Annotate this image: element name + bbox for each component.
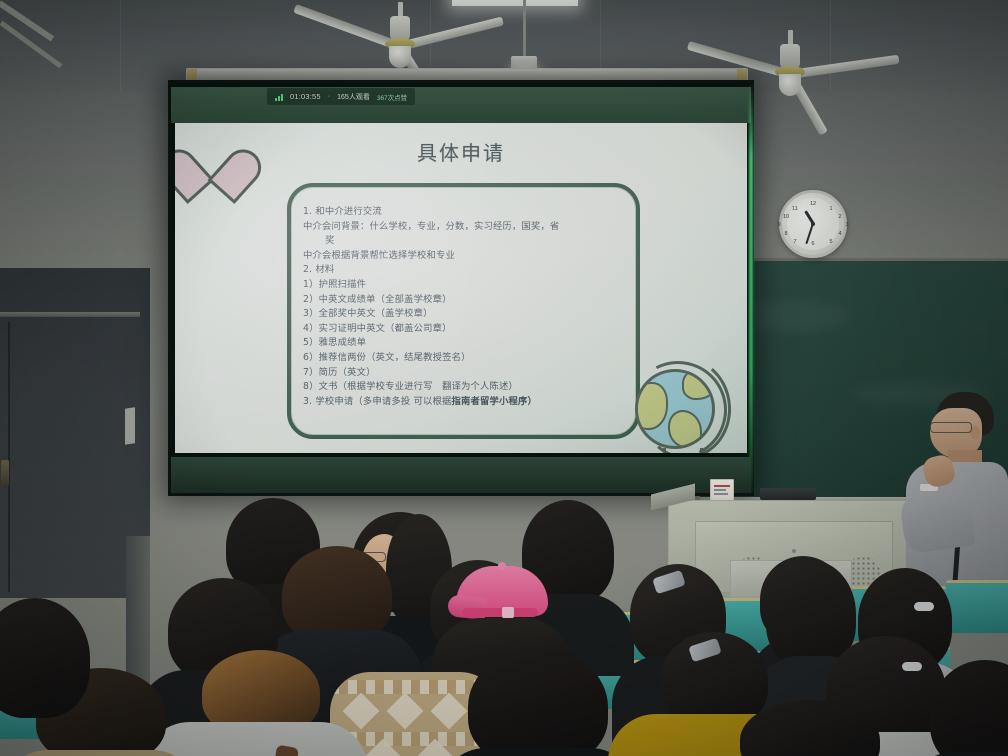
lecture-hall-photo: 12 9 3 6 1 2 4 5 7 8 10 11 01:03:5 (0, 0, 1008, 756)
slide-line-emphasis: 指南者留学小程序） (452, 396, 537, 407)
globe-icon (629, 355, 733, 453)
slide-line: 1）护照扫描件 (303, 278, 633, 293)
live-like-count: 367次点赞 (377, 92, 407, 102)
live-status-bar: 01:03:55 · 165人观看 367次点赞 (267, 88, 415, 105)
signal-bars-icon (275, 93, 283, 101)
ceiling-fan (760, 30, 820, 100)
screen-bottom-band (171, 457, 751, 493)
live-elapsed-time: 01:03:55 (290, 92, 321, 101)
hair-band (914, 602, 934, 611)
door-seam (8, 322, 10, 592)
projection-screen: 01:03:55 · 165人观看 367次点赞 具体申请 1. 和中介进行交流… (168, 80, 754, 496)
laptop-on-podium (760, 488, 816, 500)
door-handle[interactable] (1, 460, 9, 486)
slide-line: 7）简历（英文） (303, 366, 633, 381)
door-notice (125, 407, 135, 444)
slide-line: 奖 (303, 234, 633, 249)
slide-line: 6）推荐信两份（英文，结尾教授签名） (303, 351, 633, 366)
slide-line: 3）全部奖中英文（盖学校章） (303, 307, 633, 322)
screen-top-band (171, 87, 751, 123)
door-lintel (0, 312, 140, 317)
slide-line: 4）实习证明中英文（都盖公司章） (303, 322, 633, 337)
wall-clock: 12 9 3 6 1 2 4 5 7 8 10 11 (779, 190, 847, 258)
slide-line: 中介会根据背景帮忙选择学校和专业 (303, 249, 633, 264)
hair-band (902, 662, 922, 671)
slide-line: 3. 学校申请（多申请多投 可以根据指南者留学小程序） (303, 395, 633, 410)
seat-back (946, 580, 1008, 633)
slide-title: 具体申请 (175, 137, 747, 166)
presentation-slide: 具体申请 1. 和中介进行交流中介会问背景：什么学校，专业，分数，实习经历，国奖… (175, 123, 747, 453)
slide-line: 1. 和中介进行交流 (303, 205, 633, 220)
live-viewer-count: 165人观看 (337, 92, 370, 102)
screen-edge-glow (749, 83, 753, 493)
slide-line: 8）文书（根据学校专业进行写 翻译为个人陈述） (303, 380, 633, 395)
baseball-cap-icon (448, 566, 552, 624)
live-separator: · (328, 93, 330, 100)
slide-line: 5）雅思成绩单 (303, 336, 633, 351)
slide-line: 中介会问背景：什么学校，专业，分数，实习经历，国奖，省 (303, 220, 633, 235)
glasses-icon (930, 422, 972, 433)
ceiling-fan (370, 2, 430, 72)
slide-line: 2. 材料 (303, 263, 633, 278)
slide-line: 2）中英文成绩单（全部盖学校章） (303, 293, 633, 308)
slide-body-text: 1. 和中介进行交流中介会问背景：什么学校，专业，分数，实习经历，国奖，省奖中介… (303, 205, 633, 409)
